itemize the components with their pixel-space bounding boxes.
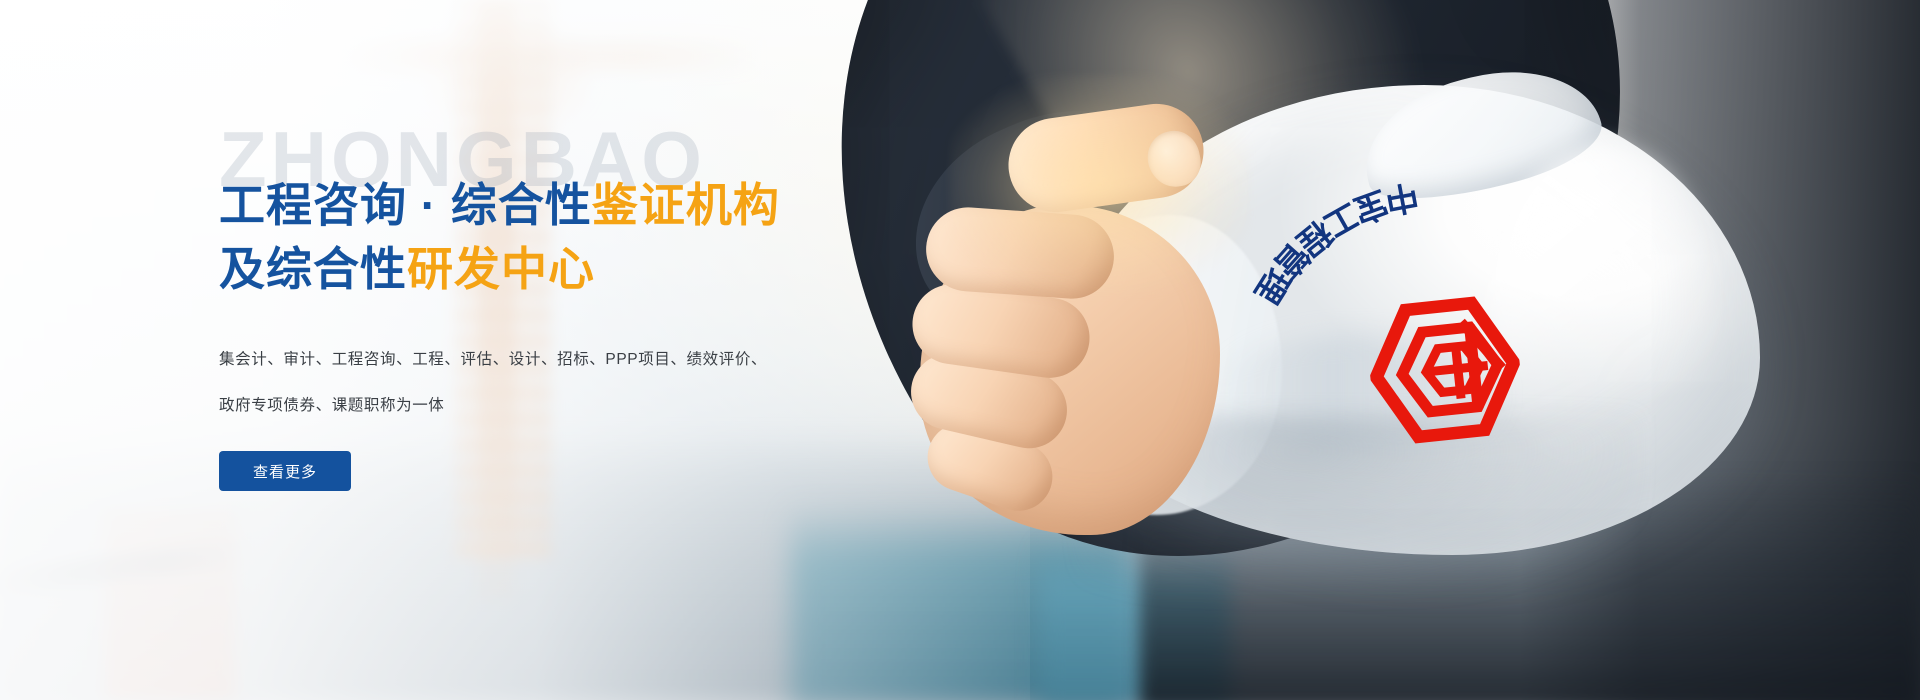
- headline-line-1-segment-orange: 鉴证机构: [592, 179, 780, 231]
- banner-content: ZHONGBAO 工程咨询 · 综合性鉴证机构 及综合性研发中心 集会计、审计、…: [219, 120, 939, 491]
- hand: [890, 95, 1320, 535]
- banner-description: 集会计、审计、工程咨询、工程、评估、设计、招标、PPP项目、绩效评价、 政府专项…: [219, 337, 939, 429]
- headline-line-2-segment-orange: 研发中心: [407, 243, 595, 295]
- hero-banner: 中宝工程管理 ZHONGBAO 工程咨询 · 综合性鉴证机构 及综合性研发中心: [0, 0, 1920, 700]
- headline-line-2-segment-blue: 及综合性: [219, 243, 407, 295]
- headline-line-1-segment-blue: 工程咨询 · 综合性: [219, 179, 592, 231]
- headline-line-2: 及综合性研发中心: [219, 237, 939, 301]
- view-more-button[interactable]: 查看更多: [219, 451, 351, 491]
- description-line-1: 集会计、审计、工程咨询、工程、评估、设计、招标、PPP项目、绩效评价、: [219, 337, 939, 383]
- description-line-2: 政府专项债券、课题职称为一体: [219, 383, 939, 429]
- hand-sun-glow: [950, 75, 1250, 295]
- banner-headline: 工程咨询 · 综合性鉴证机构 及综合性研发中心: [219, 173, 939, 301]
- headline-line-1: 工程咨询 · 综合性鉴证机构: [219, 173, 939, 237]
